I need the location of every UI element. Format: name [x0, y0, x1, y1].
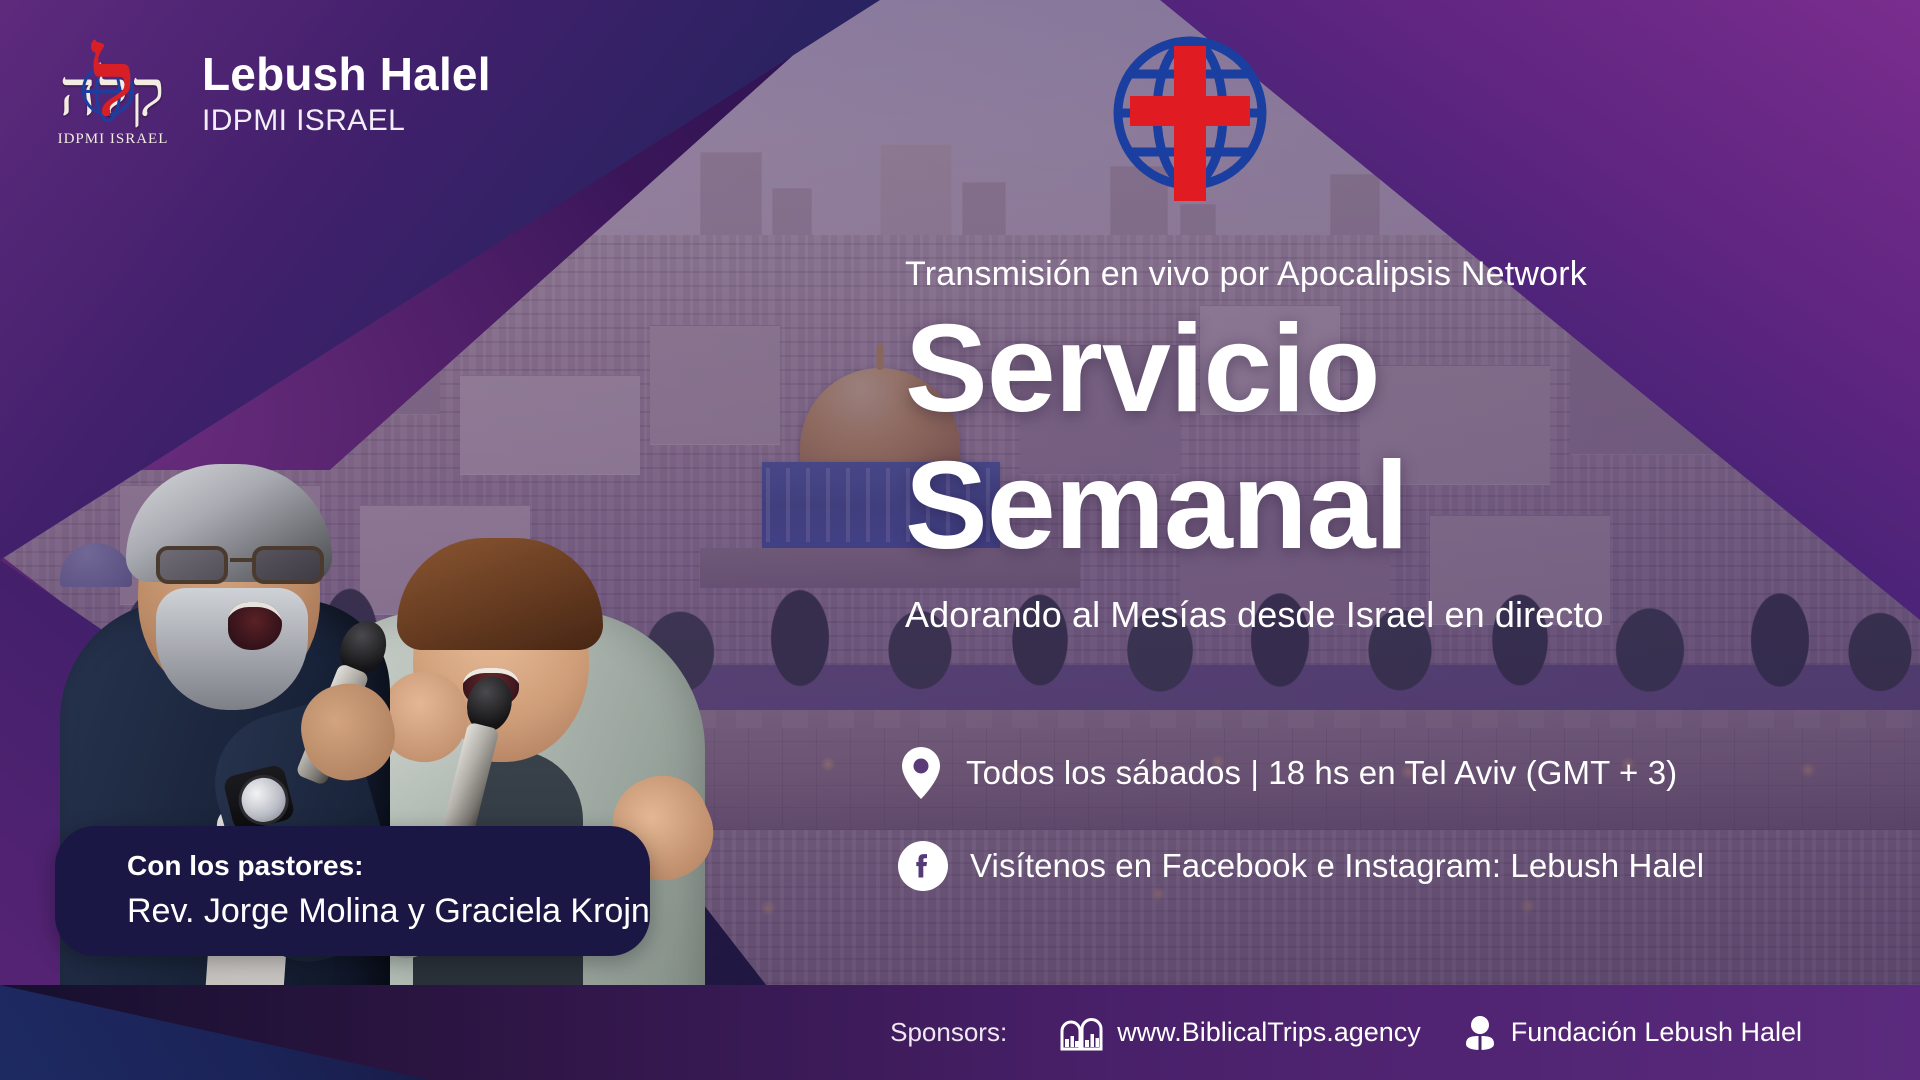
info-row-social: Visítenos en Facebook e Instagram: Lebus…	[898, 841, 1918, 891]
pastors-names: Rev. Jorge Molina y Graciela Krojn	[127, 892, 650, 931]
arch-building-icon	[1059, 1015, 1103, 1051]
woman-hair-front	[397, 538, 603, 650]
pastors-label: Con los pastores:	[127, 850, 363, 882]
map-pin-icon	[898, 745, 944, 801]
sponsor-text-fundacion: Fundación Lebush Halel	[1511, 1017, 1802, 1048]
headline-line-1: Servicio	[905, 308, 1905, 431]
info-row-schedule: Todos los sábados | 18 hs en Tel Aviv (G…	[898, 745, 1918, 801]
sponsors-row: Sponsors: www.BiblicalTrips.agency	[0, 985, 1920, 1080]
facebook-icon[interactable]	[898, 841, 948, 891]
brand-title: Lebush Halel	[202, 50, 491, 100]
globe-cross-icon	[1100, 28, 1280, 203]
promo-poster: קלה ל IDPMI ISRAEL Lebush Halel IDPMI IS…	[0, 0, 1920, 1080]
brand-text: Lebush Halel IDPMI ISRAEL	[202, 50, 491, 138]
info-text-social: Visítenos en Facebook e Instagram: Lebus…	[970, 847, 1704, 885]
pastors-photo	[60, 320, 680, 1080]
headline-line-2: Semanal	[905, 445, 1905, 568]
sponsor-biblicaltrips[interactable]: www.BiblicalTrips.agency	[1059, 1015, 1421, 1051]
brand-subtitle: IDPMI ISRAEL	[202, 104, 491, 138]
tagline-text: Adorando al Mesías desde Israel en direc…	[905, 594, 1905, 636]
pastors-banner: Con los pastores: Rev. Jorge Molina y Gr…	[55, 826, 650, 956]
logo-caption: IDPMI ISRAEL	[52, 131, 174, 148]
sponsor-text-biblicaltrips: www.BiblicalTrips.agency	[1117, 1017, 1421, 1048]
logo-lamed-letter: ל	[92, 38, 138, 130]
sponsors-label: Sponsors:	[890, 1017, 1007, 1048]
pastor-man	[60, 380, 400, 1080]
person-leaf-icon	[1463, 1014, 1497, 1052]
brand-header: קלה ל IDPMI ISRAEL Lebush Halel IDPMI IS…	[52, 42, 491, 146]
kicker-text: Transmisión en vivo por Apocalipsis Netw…	[905, 255, 1905, 294]
info-text-schedule: Todos los sábados | 18 hs en Tel Aviv (G…	[966, 754, 1677, 792]
man-glasses	[156, 546, 324, 586]
sponsor-fundacion[interactable]: Fundación Lebush Halel	[1463, 1014, 1802, 1052]
info-list: Todos los sábados | 18 hs en Tel Aviv (G…	[898, 745, 1918, 931]
idpmi-logo: קלה ל IDPMI ISRAEL	[52, 42, 174, 146]
main-content: Transmisión en vivo por Apocalipsis Netw…	[905, 255, 1905, 636]
